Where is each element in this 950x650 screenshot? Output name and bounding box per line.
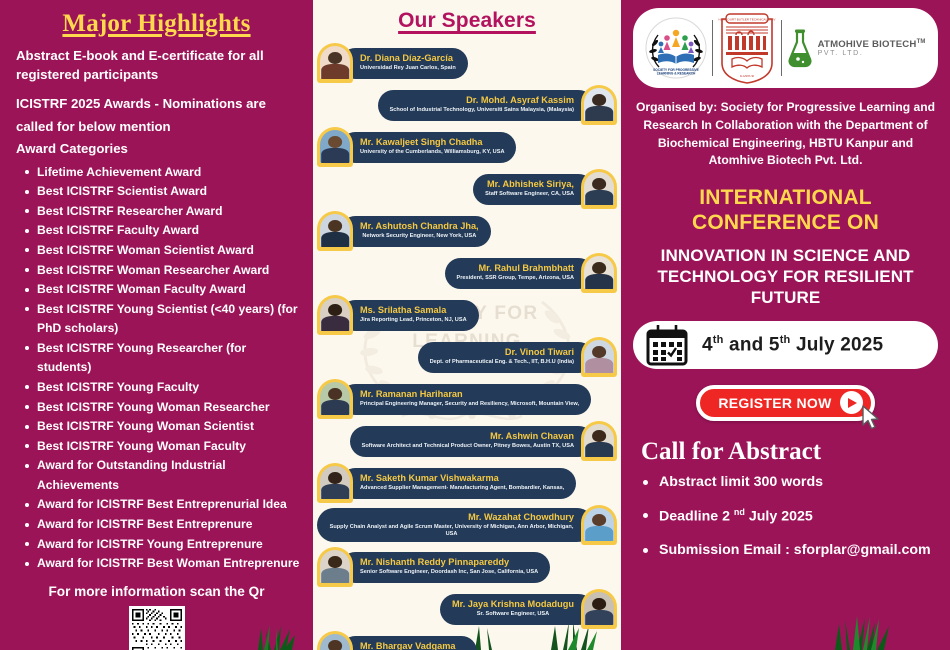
- speaker-card: Mr. Wazahat ChowdhurySupply Chain Analys…: [317, 508, 594, 543]
- register-now-label: REGISTER NOW: [718, 395, 831, 411]
- major-highlights-title: Major Highlights: [10, 10, 303, 38]
- award-category-item: Lifetime Achievement Award: [24, 163, 303, 183]
- award-category-item: Best ICISTRF Woman Researcher Award: [24, 261, 303, 281]
- trademark-symbol: TM: [917, 39, 926, 45]
- play-icon: [840, 391, 863, 414]
- speaker-name: Mr. Kawaljeet Singh Chadha: [360, 137, 504, 148]
- speaker-affiliation: Software Architect and Technical Product…: [362, 443, 574, 450]
- speaker-card: Mr. Ramanan HariharanPrincipal Engineeri…: [340, 384, 591, 415]
- register-now-button[interactable]: REGISTER NOW: [696, 385, 874, 421]
- speaker-name: Mr. Rahul Brahmbhatt: [457, 263, 575, 274]
- award-category-item: Award for ICISTRF Young Entreprenure: [24, 535, 303, 555]
- speaker-row: Mr. Bhargav VadgamaStaff Data Engineer, …: [317, 631, 617, 650]
- speaker-name: Mr. Abhishek Siriya,: [485, 179, 574, 190]
- speaker-row: Dr. Mohd. Asyraf KassimSchool of Industr…: [317, 85, 617, 125]
- abstract-ebook-note: Abstract E-book and E-certificate for al…: [10, 47, 303, 84]
- our-speakers-title: Our Speakers: [313, 0, 621, 33]
- qr-code-icon[interactable]: [129, 606, 185, 650]
- conference-date-pill: 4th and 5th July 2025: [633, 321, 938, 369]
- speaker-name: Dr. Diana Díaz-García: [360, 53, 456, 64]
- speaker-row: Mr. Ramanan HariharanPrincipal Engineeri…: [317, 379, 617, 419]
- speaker-affiliation: Senior Software Engineer, Doordash Inc, …: [360, 569, 538, 576]
- call-for-abstract-item: Abstract limit 300 words: [643, 474, 938, 491]
- cfa-text: Abstract limit 300 words: [659, 474, 823, 490]
- award-category-item: Award for Outstanding Industrial Achieve…: [24, 456, 303, 495]
- cfa-text-tail: July 2025: [745, 509, 813, 525]
- speaker-row: Mr. Kawaljeet Singh ChadhaUniversity of …: [317, 127, 617, 167]
- speaker-row: Mr. Jaya Krishna ModaduguSr. Software En…: [317, 589, 617, 629]
- speaker-affiliation: School of Industrial Technology, Univers…: [390, 107, 574, 114]
- photo-wazahat: [581, 505, 617, 545]
- speaker-affiliation: Staff Software Engineer, CA, USA: [485, 191, 574, 198]
- speaker-card: Mr. Jaya Krishna ModaduguSr. Software En…: [440, 594, 594, 625]
- award-category-item: Best ICISTRF Scientist Award: [24, 182, 303, 202]
- award-category-item: Best ICISTRF Researcher Award: [24, 202, 303, 222]
- speaker-name: Mr. Ashutosh Chandra Jha,: [360, 221, 479, 232]
- speaker-affiliation: Jira Reporting Lead, Princeton, NJ, USA: [360, 317, 467, 324]
- photo-kawaljeet: [317, 127, 353, 167]
- cfa-text: Submission Email : sforplar@gmail.com: [659, 542, 931, 558]
- speaker-row: Dr. Diana Díaz-GarcíaUniversidad Rey Jua…: [317, 43, 617, 83]
- award-category-item: Best ICISTRF Young Woman Faculty: [24, 437, 303, 457]
- award-category-item: Award for ICISTRF Best Entreprenure: [24, 515, 303, 535]
- speaker-affiliation: Supply Chain Analyst and Agile Scrum Mas…: [329, 524, 574, 539]
- speaker-card: Mr. Bhargav VadgamaStaff Data Engineer, …: [340, 636, 477, 650]
- cfa-ordinal: nd: [734, 507, 745, 517]
- photo-diana: [317, 43, 353, 83]
- award-categories-heading: Award Categories: [10, 140, 303, 159]
- award-category-item: Best ICISTRF Young Researcher (for stude…: [24, 339, 303, 378]
- speaker-row: Dr. Vinod TiwariDept. of Pharmaceutical …: [317, 337, 617, 377]
- award-category-item: Award for ICISTRF Best Woman Entreprenur…: [24, 554, 303, 574]
- conference-date: 4th and 5th July 2025: [702, 334, 883, 356]
- speaker-card: Mr. Kawaljeet Singh ChadhaUniversity of …: [340, 132, 516, 163]
- award-categories-list: Lifetime Achievement AwardBest ICISTRF S…: [10, 163, 303, 574]
- award-category-item: Best ICISTRF Woman Faculty Award: [24, 280, 303, 300]
- speaker-card: Mr. Saketh Kumar VishwakarmaAdvanced Sup…: [340, 468, 576, 499]
- speaker-card: Mr. Rahul BrahmbhattPresident, SSR Group…: [445, 258, 595, 289]
- conference-details-panel: SOCIETY FOR PROGRESSIVE LEARNING & RESEA…: [621, 0, 950, 650]
- speaker-name: Mr. Jaya Krishna Modadugu: [452, 599, 574, 610]
- atmohive-name: ATMOHIVE BIOTECHTM: [818, 39, 926, 50]
- speaker-affiliation: University of the Cumberlands, Williamsb…: [360, 149, 504, 156]
- photo-asyraf: [581, 85, 617, 125]
- photo-srilatha: [317, 295, 353, 335]
- speaker-affiliation: Universidad Rey Juan Carlos, Spain: [360, 65, 456, 72]
- svg-text:LEARNING & RESEARCH: LEARNING & RESEARCH: [657, 71, 696, 75]
- scan-qr-note: For more information scan the Qr: [10, 584, 303, 599]
- photo-rahul: [581, 253, 617, 293]
- photo-ramanan: [317, 379, 353, 419]
- speaker-name: Mr. Saketh Kumar Vishwakarma: [360, 473, 564, 484]
- speaker-affiliation: Sr. Software Engineer, USA: [452, 611, 574, 618]
- speaker-affiliation: President, SSR Group, Tempe, Arizona, US…: [457, 275, 575, 282]
- speaker-row: Mr. Nishanth Reddy PinnapareddySenior So…: [317, 547, 617, 587]
- photo-ashwin: [581, 421, 617, 461]
- award-category-item: Award for ICISTRF Best Entreprenurial Id…: [24, 495, 303, 515]
- award-category-item: Best ICISTRF Young Woman Researcher: [24, 398, 303, 418]
- speaker-card: Ms. Srilatha SamalaJira Reporting Lead, …: [340, 300, 479, 331]
- photo-vinod-t: [581, 337, 617, 377]
- speaker-card: Dr. Mohd. Asyraf KassimSchool of Industr…: [378, 90, 594, 121]
- call-for-abstract-list: Abstract limit 300 wordsDeadline 2 nd Ju…: [633, 474, 938, 559]
- award-category-item: Best ICISTRF Woman Scientist Award: [24, 241, 303, 261]
- speakers-panel: SOCIETY FOR LEARNING Our Speakers Dr. Di…: [313, 0, 621, 650]
- photo-bhargav: [317, 631, 353, 650]
- flask-icon: [787, 28, 813, 68]
- speaker-affiliation: Network Security Engineer, New York, USA: [360, 233, 479, 240]
- awards-nomination-note: ICISTRF 2025 Awards - Nominations are ca…: [10, 93, 303, 138]
- speaker-row: Mr. Wazahat ChowdhurySupply Chain Analys…: [317, 505, 617, 545]
- major-highlights-panel: Major Highlights Abstract E-book and E-c…: [0, 0, 313, 650]
- speaker-card: Mr. Ashwin ChavanSoftware Architect and …: [350, 426, 594, 457]
- grass-decoration-right: [821, 608, 911, 650]
- svg-text:HARCOURT BUTLER TECHNICAL UNIV: HARCOURT BUTLER TECHNICAL UNIV: [718, 18, 775, 22]
- speaker-card: Mr. Nishanth Reddy PinnapareddySenior So…: [340, 552, 550, 583]
- conference-theme: INNOVATION IN SCIENCE AND TECHNOLOGY FOR…: [633, 245, 938, 308]
- logo-divider-2: [781, 20, 783, 76]
- photo-abhishek: [581, 169, 617, 209]
- award-category-item: Best ICISTRF Young Scientist (<40 years)…: [24, 300, 303, 339]
- speaker-row: Mr. Abhishek Siriya,Staff Software Engin…: [317, 169, 617, 209]
- cfa-text: Deadline 2: [659, 509, 734, 525]
- speaker-card: Mr. Ashutosh Chandra Jha,Network Securit…: [340, 216, 491, 247]
- speaker-name: Mr. Bhargav Vadgama: [360, 641, 465, 650]
- speaker-row: Mr. Saketh Kumar VishwakarmaAdvanced Sup…: [317, 463, 617, 503]
- society-logo-cell: SOCIETY FOR PROGRESSIVE LEARNING & RESEA…: [645, 12, 707, 84]
- speaker-card: Dr. Vinod TiwariDept. of Pharmaceutical …: [418, 342, 594, 373]
- speaker-card: Dr. Diana Díaz-GarcíaUniversidad Rey Jua…: [340, 48, 468, 79]
- speaker-card: Mr. Abhishek Siriya,Staff Software Engin…: [473, 174, 594, 205]
- photo-saketh: [317, 463, 353, 503]
- qr-code-wrapper: [10, 606, 303, 650]
- qr-code-svg: [132, 609, 182, 650]
- speaker-name: Mr. Wazahat Chowdhury: [329, 512, 574, 523]
- award-category-item: Best ICISTRF Faculty Award: [24, 221, 303, 241]
- photo-jaya: [581, 589, 617, 629]
- conference-heading: INTERNATIONAL CONFERENCE ON: [633, 186, 938, 236]
- award-category-item: Best ICISTRF Young Woman Scientist: [24, 417, 303, 437]
- register-area: REGISTER NOW: [633, 385, 938, 421]
- speaker-name: Ms. Srilatha Samala: [360, 305, 467, 316]
- speaker-affiliation: Principal Engineering Manager, Security …: [360, 401, 579, 408]
- atmohive-subtitle: PVT. LTD.: [818, 50, 926, 57]
- svg-text:KANPUR: KANPUR: [740, 74, 755, 78]
- speaker-name: Mr. Ashwin Chavan: [362, 431, 574, 442]
- speaker-affiliation: Dept. of Pharmaceutical Eng. & Tech., II…: [430, 359, 574, 366]
- conference-poster: Major Highlights Abstract E-book and E-c…: [0, 0, 950, 650]
- call-for-abstract-item: Deadline 2 nd July 2025: [643, 507, 938, 526]
- speaker-name: Dr. Mohd. Asyraf Kassim: [390, 95, 574, 106]
- call-for-abstract-title: Call for Abstract: [633, 438, 938, 466]
- speaker-name: Mr. Ramanan Hariharan: [360, 389, 579, 400]
- speaker-row: Ms. Srilatha SamalaJira Reporting Lead, …: [317, 295, 617, 335]
- speaker-name: Dr. Vinod Tiwari: [430, 347, 574, 358]
- call-for-abstract-item: Submission Email : sforplar@gmail.com: [643, 542, 938, 559]
- society-logo-icon: SOCIETY FOR PROGRESSIVE LEARNING & RESEA…: [645, 17, 707, 79]
- photo-nishanth: [317, 547, 353, 587]
- hbtu-logo-cell: HARCOURT BUTLER TECHNICAL UNIV: [718, 12, 776, 84]
- calendar-icon: [645, 324, 689, 366]
- speaker-affiliation: Advanced Supplier Management- Manufactur…: [360, 485, 564, 492]
- hbtu-kanpur-crest-icon: HARCOURT BUTLER TECHNICAL UNIV: [718, 11, 776, 85]
- logo-divider-1: [712, 20, 714, 76]
- speaker-row: Mr. Ashwin ChavanSoftware Architect and …: [317, 421, 617, 461]
- organiser-logo-bar: SOCIETY FOR PROGRESSIVE LEARNING & RESEA…: [633, 8, 938, 88]
- organised-by-text: Organised by: Society for Progressive Le…: [633, 99, 938, 170]
- atmohive-text: ATMOHIVE BIOTECHTM PVT. LTD.: [818, 39, 926, 58]
- speaker-name: Mr. Nishanth Reddy Pinnapareddy: [360, 557, 538, 568]
- speaker-row: Mr. Ashutosh Chandra Jha,Network Securit…: [317, 211, 617, 251]
- award-category-item: Best ICISTRF Young Faculty: [24, 378, 303, 398]
- speakers-list: Dr. Diana Díaz-GarcíaUniversidad Rey Jua…: [313, 43, 621, 650]
- photo-ashutosh: [317, 211, 353, 251]
- speaker-row: Mr. Rahul BrahmbhattPresident, SSR Group…: [317, 253, 617, 293]
- atmohive-logo-cell: ATMOHIVE BIOTECHTM PVT. LTD.: [787, 12, 926, 84]
- mouse-cursor-icon: [861, 405, 883, 431]
